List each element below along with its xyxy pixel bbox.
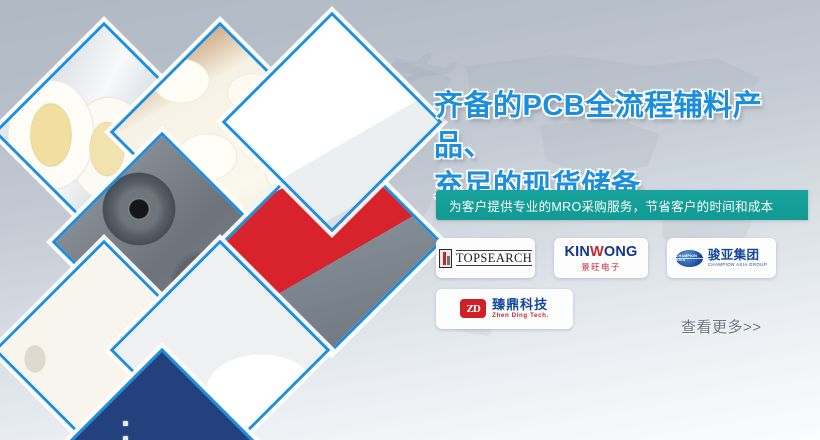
client-logo-grid: TOPSEARCH KINWONG 景旺电子 CHAMPION ASIA 骏亚集… (436, 238, 820, 329)
client-logo-kinwong[interactable]: KINWONG 景旺电子 (554, 238, 648, 278)
kinwong-ong: ONG (604, 244, 638, 260)
champion-asia-chinese-name: 骏亚集团 (708, 249, 767, 262)
banner-subtitle-text: 为客户提供专业的MRO采购服务，节省客户的时间和成本 (436, 196, 773, 215)
product-image-collage: JIE (0, 14, 424, 440)
champion-asia-english-name: CHAMPION ASIA GROUP (708, 263, 767, 267)
globe-icon-label: CHAMPION ASIA (676, 254, 703, 262)
banner-content: 齐备的PCB全流程辅料产品、 充足的现货储备 为客户提供专业的MRO采购服务，节… (428, 0, 820, 440)
client-logo-topsearch[interactable]: TOPSEARCH (436, 238, 535, 278)
topsearch-wordmark: TOPSEARCH (456, 250, 532, 266)
view-more-link[interactable]: 查看更多>> (681, 316, 762, 337)
kinwong-w-accent: W (590, 244, 604, 260)
client-logo-row-2: ZD 臻鼎科技 Zhen Ding Tech. (436, 289, 820, 329)
client-logo-zhen-ding[interactable]: ZD 臻鼎科技 Zhen Ding Tech. (436, 289, 573, 329)
headline-line-1: 齐备的PCB全流程辅料产品、 (434, 90, 762, 162)
zhen-ding-chinese-name: 臻鼎科技 (492, 298, 549, 311)
banner-headline: 齐备的PCB全流程辅料产品、 充足的现货储备 (434, 86, 820, 206)
panel-dots-decoration (111, 421, 128, 440)
banner-subtitle-bar: 为客户提供专业的MRO采购服务，节省客户的时间和成本 (436, 190, 808, 220)
kinwong-chinese-name: 景旺电子 (564, 263, 637, 272)
kinwong-wordmark: KINWONG (564, 245, 637, 260)
promo-banner: JIE 齐备的PCB全流程辅料产品、 充足的现货储备 为客户提供专业的MRO采购… (0, 0, 820, 440)
globe-icon: CHAMPION ASIA (676, 250, 703, 267)
client-logo-row-1: TOPSEARCH KINWONG 景旺电子 CHAMPION ASIA 骏亚集… (436, 238, 820, 278)
zhen-ding-english-name: Zhen Ding Tech. (492, 313, 549, 319)
client-logo-champion-asia[interactable]: CHAMPION ASIA 骏亚集团 CHAMPION ASIA GROUP (667, 238, 776, 278)
kinwong-kin: KIN (564, 244, 590, 260)
zhen-ding-mark-icon: ZD (460, 299, 486, 318)
topsearch-mark-icon (439, 249, 452, 268)
